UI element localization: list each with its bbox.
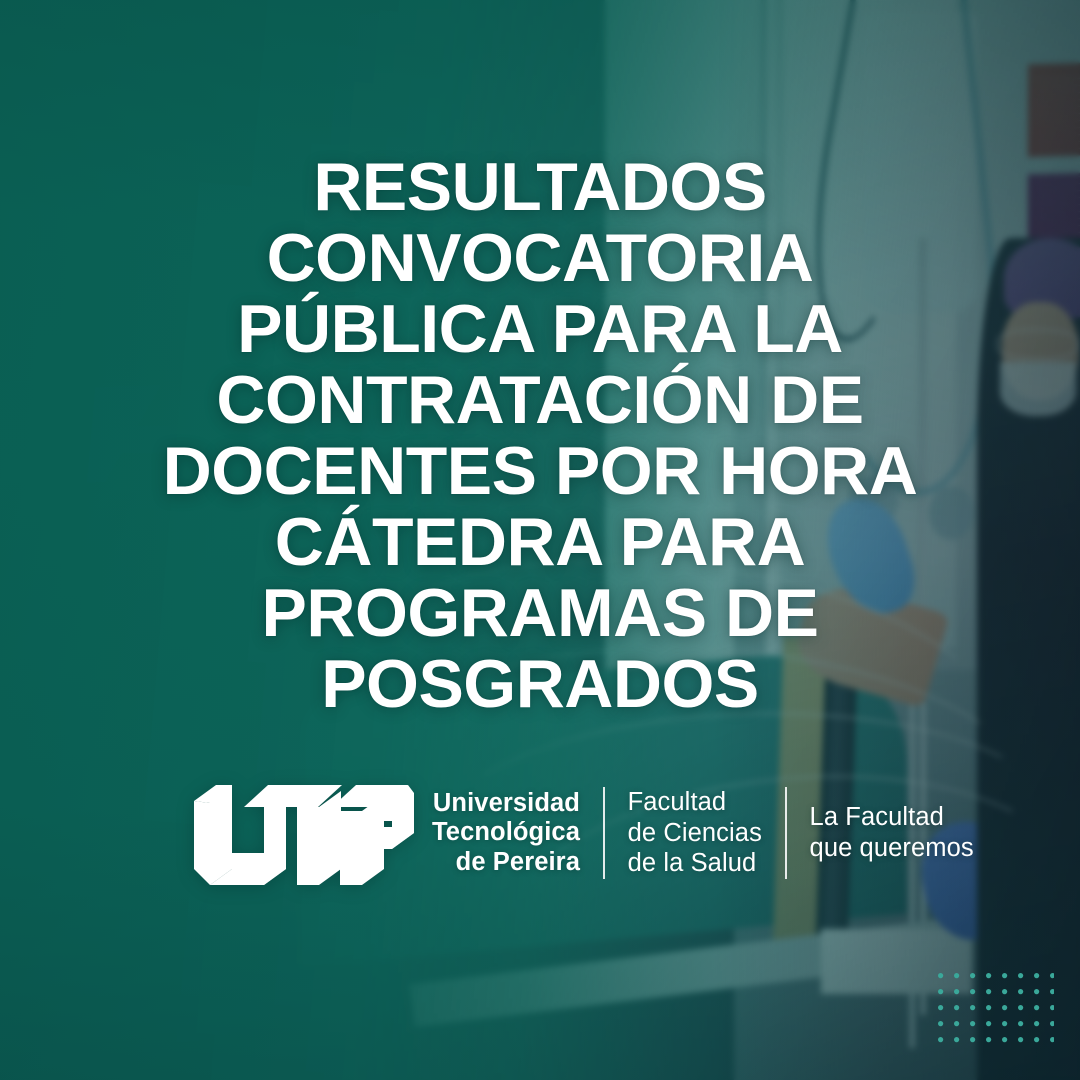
university-name: Universidad Tecnológica de Pereira (432, 789, 580, 878)
brand-divider-2 (785, 787, 787, 879)
dot-grid-pattern (938, 973, 1054, 1057)
page-title: RESULTADOS CONVOCATORIA PÚBLICA PARA LA … (108, 152, 972, 720)
utp-logo (192, 781, 416, 885)
faculty-tagline: La Facultad que queremos (810, 802, 974, 863)
poster-canvas: RESULTADOS CONVOCATORIA PÚBLICA PARA LA … (0, 0, 1080, 1080)
brand-divider-1 (603, 787, 605, 879)
title-block: RESULTADOS CONVOCATORIA PÚBLICA PARA LA … (0, 152, 1080, 720)
brand-bar: Universidad Tecnológica de Pereira Facul… (192, 778, 974, 888)
faculty-name: Facultad de Ciencias de la Salud (628, 787, 762, 879)
